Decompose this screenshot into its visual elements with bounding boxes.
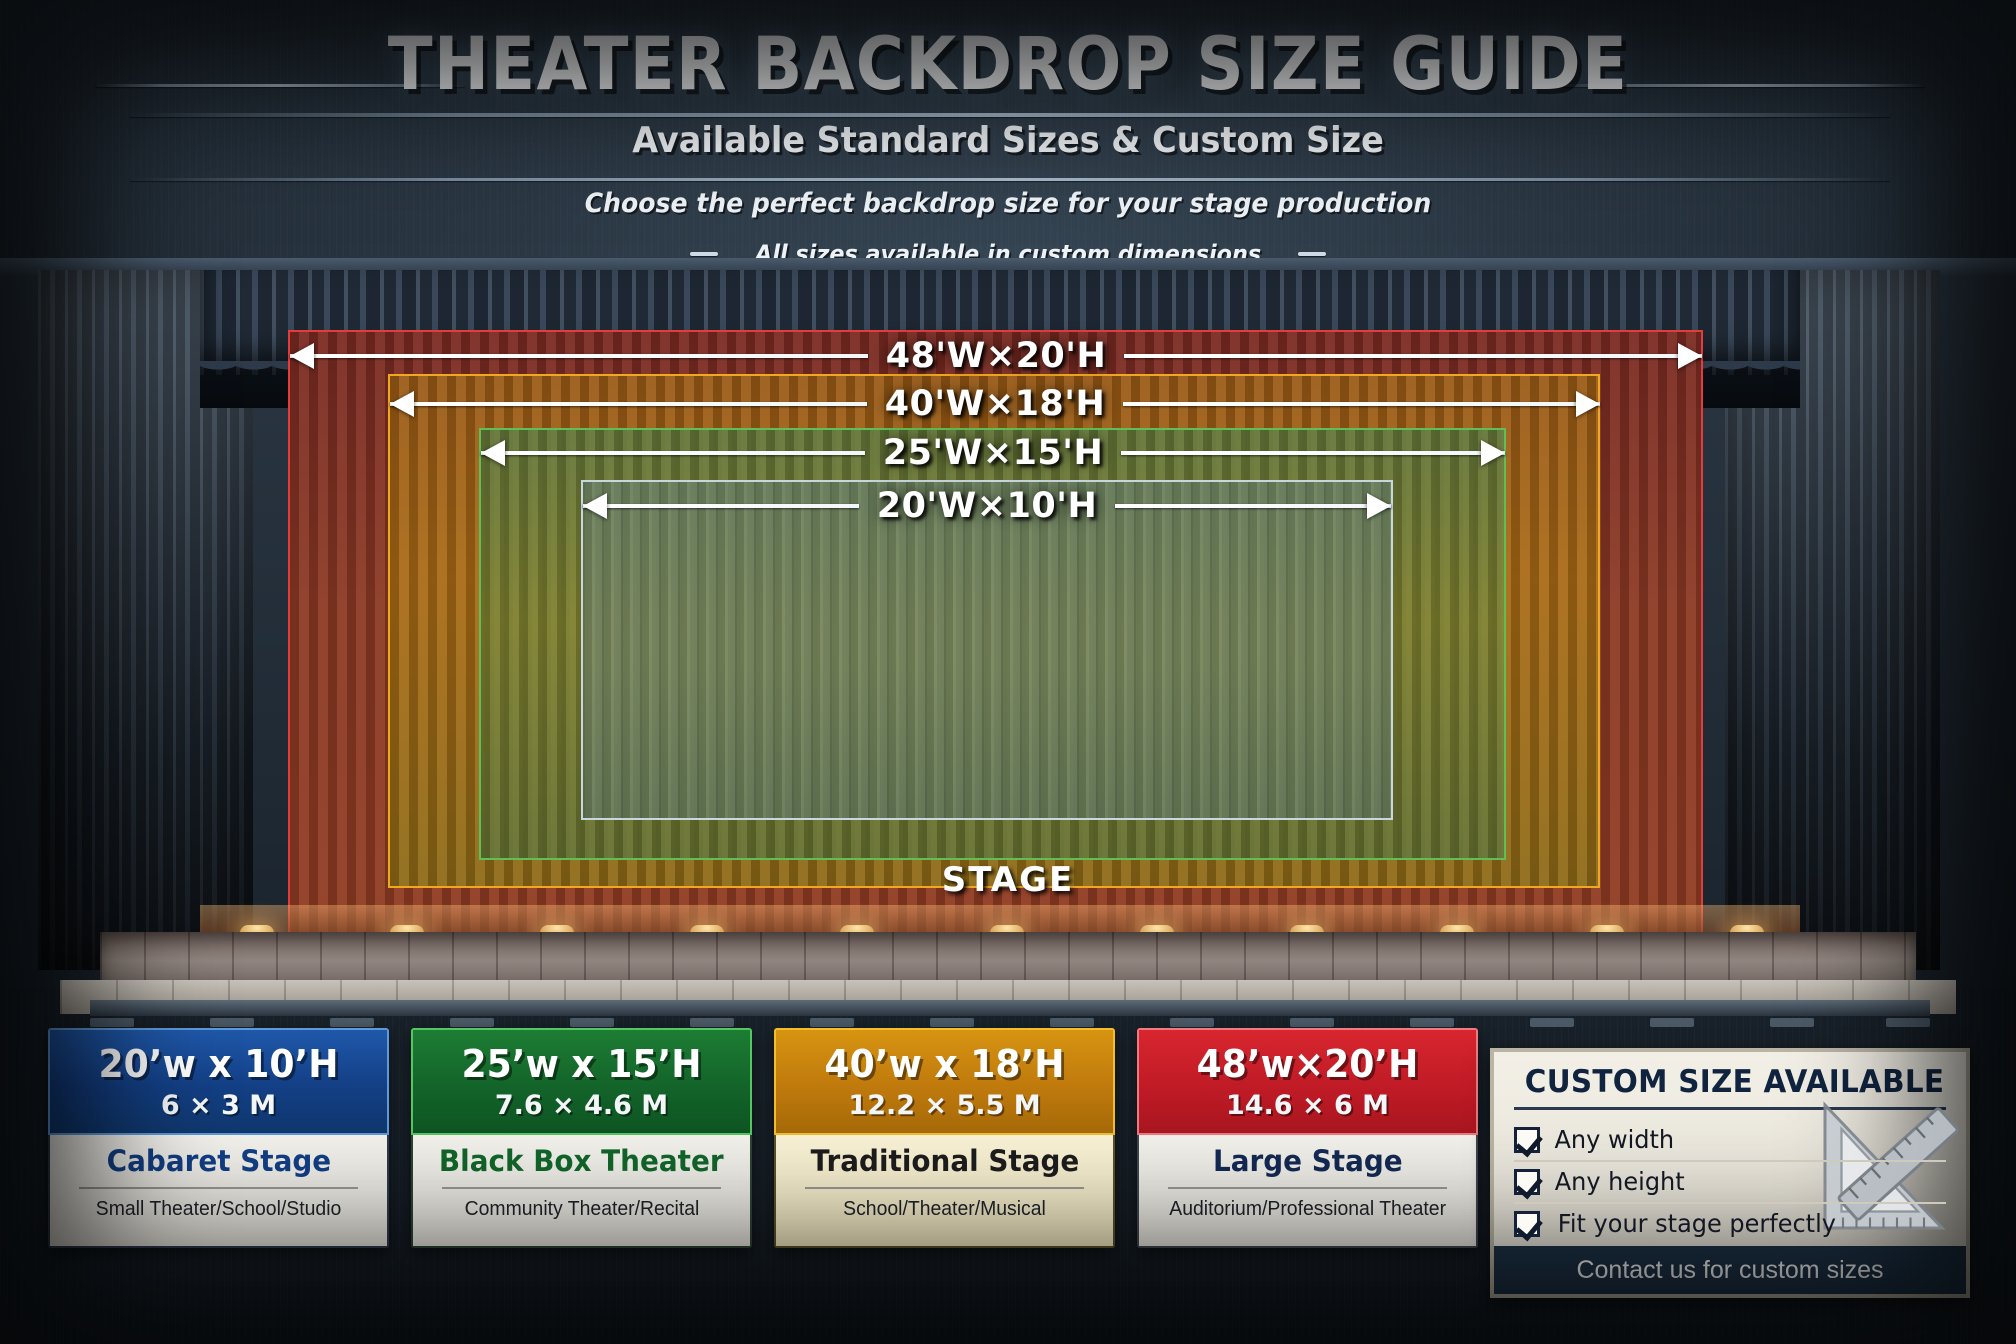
card-dimension: 40’w x 18’H — [792, 1042, 1097, 1086]
card-use-case: Auditorium/Professional Theater — [1169, 1198, 1446, 1221]
arrow-head-right-icon — [1481, 440, 1505, 466]
size-card-large-stage[interactable]: 48’w×20’H 14.6 × 6 M Large Stage Auditor… — [1137, 1028, 1478, 1248]
dimension-label-40x18: 40'W×18'H — [867, 384, 1124, 424]
arrow-head-left-icon — [583, 493, 607, 519]
card-use-case: School/Theater/Musical — [843, 1198, 1046, 1221]
card-metric: 14.6 × 6 M — [1147, 1090, 1468, 1121]
arrow-bar — [1123, 402, 1600, 406]
size-card-traditional-stage[interactable]: 40’w x 18’H 12.2 × 5.5 M Traditional Sta… — [774, 1028, 1115, 1248]
arrow-bar — [1124, 354, 1702, 358]
card-header: 40’w x 18’H 12.2 × 5.5 M — [774, 1028, 1115, 1135]
arrow-bar — [1115, 504, 1391, 508]
card-dimension: 48’w×20’H — [1155, 1042, 1460, 1086]
dimension-label-20x10: 20'W×10'H — [859, 486, 1116, 526]
card-body: Large Stage Auditorium/Professional Thea… — [1137, 1135, 1478, 1248]
poster-root: THEATER BACKDROP SIZE GUIDE Available St… — [0, 0, 2016, 1344]
arrow-left-25 — [481, 430, 865, 476]
arrow-bar — [390, 402, 867, 406]
arrow-head-left-icon — [481, 440, 505, 466]
card-header: 25’w x 15’H 7.6 × 4.6 M — [411, 1028, 752, 1135]
arrow-right-48 — [1124, 333, 1702, 379]
card-metric: 12.2 × 5.5 M — [784, 1090, 1105, 1121]
arrow-right-25 — [1121, 430, 1505, 476]
stage-label: STAGE — [0, 860, 2016, 900]
arrow-head-right-icon — [1678, 343, 1702, 369]
custom-feature-any-width[interactable]: Any width — [1514, 1120, 1946, 1162]
arrow-left-20 — [583, 483, 859, 529]
dimension-label-25x15: 25'W×15'H — [865, 433, 1122, 473]
card-use-case: Small Theater/School/Studio — [96, 1198, 342, 1221]
custom-size-cta-label: Contact us for custom sizes — [1576, 1256, 1883, 1285]
arrow-head-left-icon — [290, 343, 314, 369]
dimension-row-25x15: 25'W×15'H — [481, 430, 1505, 476]
custom-size-panel[interactable]: CUSTOM SIZE AVAILABLE Any width Any heig… — [1490, 1048, 1970, 1298]
custom-feature-label: Any height — [1555, 1167, 1685, 1196]
arrow-head-right-icon — [1367, 493, 1391, 519]
card-body: Black Box Theater Community Theater/Reci… — [411, 1135, 752, 1248]
card-title: Traditional Stage — [810, 1144, 1079, 1178]
card-title: Black Box Theater — [439, 1144, 724, 1178]
arrow-left-40 — [390, 381, 867, 427]
custom-feature-label: Any width — [1554, 1125, 1674, 1154]
dimension-row-48x20: 48'W×20'H — [290, 333, 1702, 379]
arrow-head-right-icon — [1576, 391, 1600, 417]
custom-size-body: CUSTOM SIZE AVAILABLE Any width Any heig… — [1494, 1052, 1966, 1246]
arrow-bar — [583, 504, 859, 508]
card-dimension: 25’w x 15’H — [429, 1042, 734, 1086]
card-divider — [79, 1187, 358, 1189]
card-divider — [442, 1187, 721, 1189]
size-card-cabaret-stage[interactable]: 20’w x 10’H 6 × 3 M Cabaret Stage Small … — [48, 1028, 389, 1248]
checkbox-checked-icon[interactable] — [1514, 1127, 1540, 1153]
arrow-right-40 — [1123, 381, 1600, 427]
custom-size-cta-bar[interactable]: Contact us for custom sizes — [1494, 1246, 1966, 1294]
card-metric: 6 × 3 M — [58, 1090, 379, 1121]
arrow-bar — [481, 451, 865, 455]
dimension-row-40x18: 40'W×18'H — [390, 381, 1600, 427]
size-card-row: 20’w x 10’H 6 × 3 M Cabaret Stage Small … — [48, 1028, 1478, 1248]
card-divider — [1168, 1187, 1447, 1189]
custom-size-title: CUSTOM SIZE AVAILABLE — [1525, 1064, 1935, 1100]
arrow-bar — [1121, 451, 1505, 455]
card-metric: 7.6 × 4.6 M — [421, 1090, 742, 1121]
arrow-bar — [290, 354, 868, 358]
card-title: Large Stage — [1213, 1144, 1403, 1178]
card-header: 48’w×20’H 14.6 × 6 M — [1137, 1028, 1478, 1135]
backdrop-rect-20x10[interactable] — [581, 480, 1393, 820]
custom-feature-label: Fit your stage perfectly — [1558, 1209, 1836, 1238]
card-header: 20’w x 10’H 6 × 3 M — [48, 1028, 389, 1135]
stage-floor-front — [100, 932, 1916, 984]
custom-feature-any-height[interactable]: Any height — [1514, 1162, 1946, 1204]
card-body: Traditional Stage School/Theater/Musical — [774, 1135, 1115, 1248]
card-use-case: Community Theater/Recital — [464, 1198, 699, 1221]
checkbox-checked-icon[interactable] — [1514, 1169, 1540, 1195]
dimension-label-48x20: 48'W×20'H — [868, 336, 1125, 376]
card-dimension: 20’w x 10’H — [66, 1042, 371, 1086]
arrow-left-48 — [290, 333, 868, 379]
custom-feature-fit-stage[interactable]: Fit your stage perfectly — [1514, 1204, 1946, 1244]
dimension-row-20x10: 20'W×10'H — [583, 483, 1391, 529]
checkbox-checked-icon[interactable] — [1514, 1211, 1540, 1237]
size-card-black-box-theater[interactable]: 25’w x 15’H 7.6 × 4.6 M Black Box Theate… — [411, 1028, 752, 1248]
card-divider — [805, 1187, 1084, 1189]
card-body: Cabaret Stage Small Theater/School/Studi… — [48, 1135, 389, 1248]
stage-rail — [90, 1000, 1930, 1016]
arrow-head-left-icon — [390, 391, 414, 417]
card-title: Cabaret Stage — [106, 1144, 331, 1178]
arrow-right-20 — [1115, 483, 1391, 529]
